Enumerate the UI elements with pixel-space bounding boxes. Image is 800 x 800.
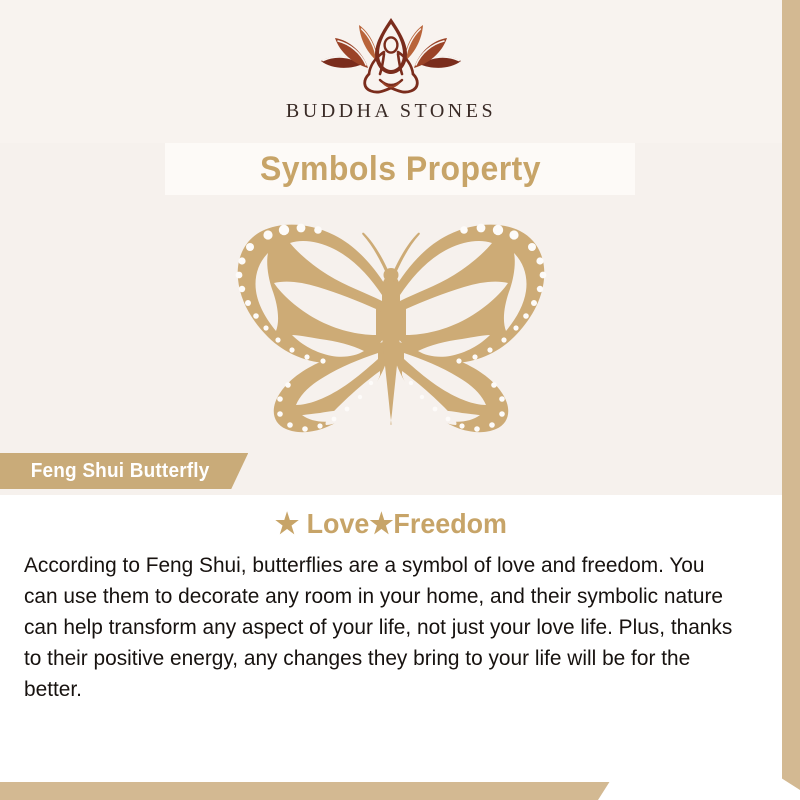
ribbon-label: Feng Shui Butterfly bbox=[31, 460, 210, 483]
description-panel: ★ Love★Freedom According to Feng Shui, b… bbox=[0, 495, 782, 782]
lotus-meditation-icon bbox=[313, 14, 469, 98]
brand-name: BUDDHA STONES bbox=[286, 100, 496, 123]
brand-header: BUDDHA STONES bbox=[0, 0, 782, 143]
promo-graphic: BUDDHA STONES Symbols Property bbox=[0, 0, 800, 800]
illustration-area bbox=[0, 200, 782, 450]
content-plate: BUDDHA STONES Symbols Property bbox=[0, 0, 782, 782]
keywords-heading: ★ Love★Freedom bbox=[16, 507, 767, 540]
page-title: Symbols Property bbox=[259, 150, 540, 189]
butterfly-icon bbox=[206, 213, 576, 438]
section-ribbon: Feng Shui Butterfly bbox=[0, 453, 248, 489]
title-plaque: Symbols Property bbox=[165, 143, 635, 195]
description-paragraph: According to Feng Shui, butterflies are … bbox=[24, 550, 736, 705]
